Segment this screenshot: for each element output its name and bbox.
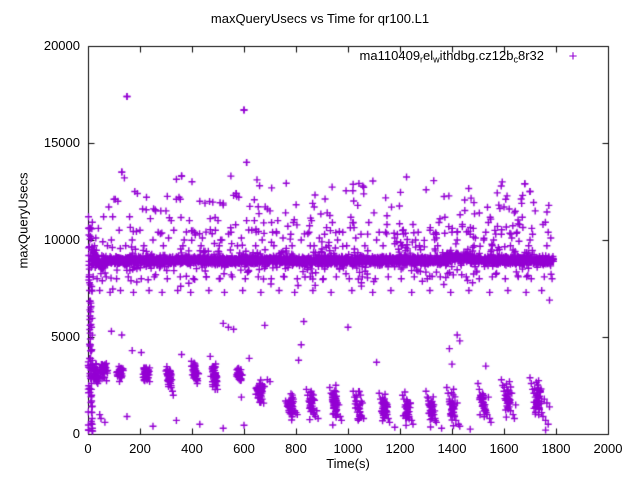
y-tick-label: 10000 xyxy=(2,232,80,247)
x-tick-label: 400 xyxy=(162,441,222,456)
x-tick-label: 1000 xyxy=(318,441,378,456)
x-tick-label: 1800 xyxy=(526,441,586,456)
x-tick-label: 0 xyxy=(58,441,118,456)
x-tick-label: 1600 xyxy=(474,441,534,456)
legend-plus-marker-icon: + xyxy=(552,49,594,64)
x-tick-label: 1400 xyxy=(422,441,482,456)
y-tick-label: 15000 xyxy=(2,135,80,150)
x-tick-label: 600 xyxy=(214,441,274,456)
x-tick-label: 2000 xyxy=(578,441,638,456)
y-tick-label: 0 xyxy=(2,426,80,441)
y-axis-label: maxQueryUsecs xyxy=(16,151,31,291)
x-tick-label: 800 xyxy=(266,441,326,456)
y-tick-label: 20000 xyxy=(2,38,80,53)
gnuplot-scatter-plot: maxQueryUsecs vs Time for qr100.L1 ma110… xyxy=(0,0,640,480)
x-tick-label: 1200 xyxy=(370,441,430,456)
x-tick-label: 200 xyxy=(110,441,170,456)
x-axis-label: Time(s) xyxy=(88,456,608,471)
legend: ma110409relwithdbg.cz12bc8r32 + xyxy=(312,45,594,68)
plot-canvas xyxy=(0,0,640,480)
y-tick-label: 5000 xyxy=(2,329,80,344)
legend-entry-label: ma110409relwithdbg.cz12bc8r32 xyxy=(360,48,544,64)
